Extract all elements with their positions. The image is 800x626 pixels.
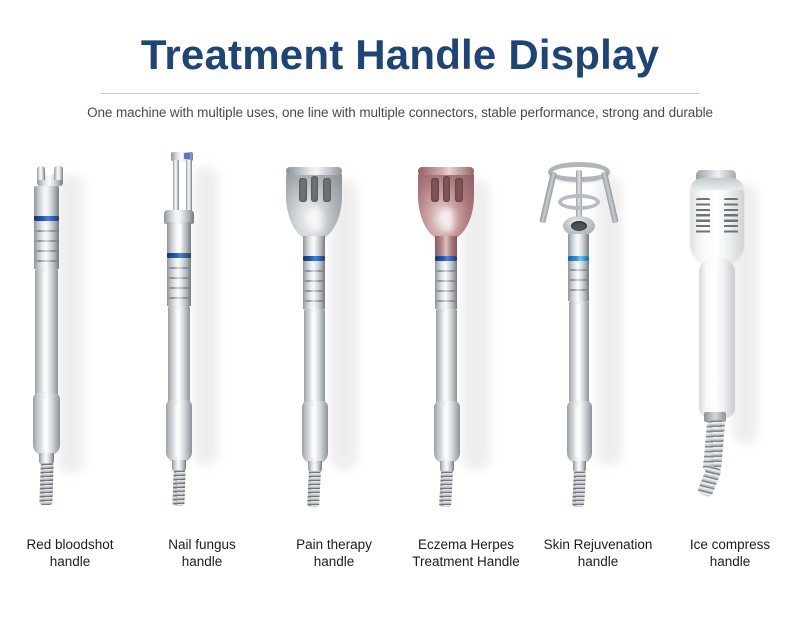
caption-line-2: handle (132, 553, 272, 570)
caption-ice-compress-handle: Ice compress handle (660, 536, 800, 570)
grip-bulb (434, 401, 460, 463)
handle-image-eczema-herpes (402, 150, 530, 504)
handle-image-skin-rejuvenation (534, 150, 662, 504)
vented-white-shell (690, 178, 744, 264)
caption-line-1: Nail fungus (168, 537, 236, 552)
caption-line-1: Pain therapy (296, 537, 372, 552)
product-gallery: Red bloodshot handle (0, 150, 800, 570)
product-item-ice-compress-handle[interactable]: Ice compress handle (666, 150, 794, 570)
caption-line-2: handle (660, 553, 800, 570)
grip-bulb (33, 393, 60, 455)
handle-shaft (35, 269, 58, 395)
cup-slot (323, 178, 331, 202)
caption-line-1: Eczema Herpes (418, 537, 514, 552)
handle-image-red-bloodshot (6, 150, 134, 504)
cup-slot (311, 176, 318, 202)
connector-cable (307, 471, 321, 508)
handle-image-nail-fungus (138, 150, 266, 504)
product-item-skin-rejuvenation-handle[interactable]: Skin Rejuvenation handle (534, 150, 662, 570)
caption-line-2: handle (528, 553, 668, 570)
head-neck (303, 236, 325, 258)
cup-rim (418, 167, 474, 175)
handle-shaft (436, 309, 457, 403)
cup-slot (299, 178, 307, 202)
caption-line-1: Red bloodshot (26, 537, 113, 552)
vent-grille-right (724, 198, 738, 236)
grip-bulb (302, 401, 328, 463)
product-item-nail-fungus-handle[interactable]: Nail fungus handle (138, 150, 266, 570)
product-item-pain-therapy-handle[interactable]: Pain therapy handle (270, 150, 398, 570)
head-neck (568, 234, 589, 258)
page-subtitle: One machine with multiple uses, one line… (0, 94, 800, 120)
caption-red-bloodshot-handle: Red bloodshot handle (0, 536, 140, 570)
caption-line-2: handle (0, 553, 140, 570)
grip-bulb (166, 400, 192, 462)
forked-hook-tip-icon (37, 166, 63, 188)
handle-shaft (304, 309, 325, 403)
cup-slot (443, 176, 450, 202)
caption-nail-fungus-handle: Nail fungus handle (132, 536, 272, 570)
product-item-eczema-herpes-treatment-handle[interactable]: Eczema Herpes Treatment Handle (402, 150, 530, 570)
cup-slot (455, 178, 463, 202)
connector-cable-tail (697, 464, 722, 497)
product-item-red-bloodshot-handle[interactable]: Red bloodshot handle (6, 150, 134, 570)
head-neck (435, 236, 457, 258)
head-collar (34, 186, 59, 218)
cup-slot (431, 178, 439, 202)
head-collar (167, 222, 191, 254)
handle-body (699, 258, 735, 418)
caption-line-2: handle (264, 553, 404, 570)
caption-line-2: Treatment Handle (396, 553, 536, 570)
header: Treatment Handle Display One machine wit… (0, 0, 800, 120)
connector-cable (39, 463, 53, 505)
handle-shaft (168, 306, 190, 402)
page-title: Treatment Handle Display (0, 0, 800, 77)
open-cage-ring-head-icon (548, 162, 610, 238)
handle-shaft (569, 301, 589, 403)
drop-shadow (58, 174, 84, 474)
connector-cable (172, 470, 185, 506)
vent-grille-left (696, 198, 710, 236)
connector-cable (439, 471, 453, 508)
grip-bulb (567, 401, 592, 463)
product-display-page: Treatment Handle Display One machine wit… (0, 0, 800, 626)
ribbed-grip (568, 261, 589, 301)
caption-line-1: Skin Rejuvenation (544, 537, 653, 552)
cup-rim (286, 167, 342, 175)
caption-line-1: Ice compress (690, 537, 770, 552)
handle-image-ice-compress (666, 150, 794, 504)
caption-eczema-herpes-treatment-handle: Eczema Herpes Treatment Handle (396, 536, 536, 570)
connector-cable (703, 419, 725, 472)
caption-skin-rejuvenation-handle: Skin Rejuvenation handle (528, 536, 668, 570)
caption-pain-therapy-handle: Pain therapy handle (264, 536, 404, 570)
handle-image-pain-therapy (270, 150, 398, 504)
connector-cable (572, 471, 586, 508)
